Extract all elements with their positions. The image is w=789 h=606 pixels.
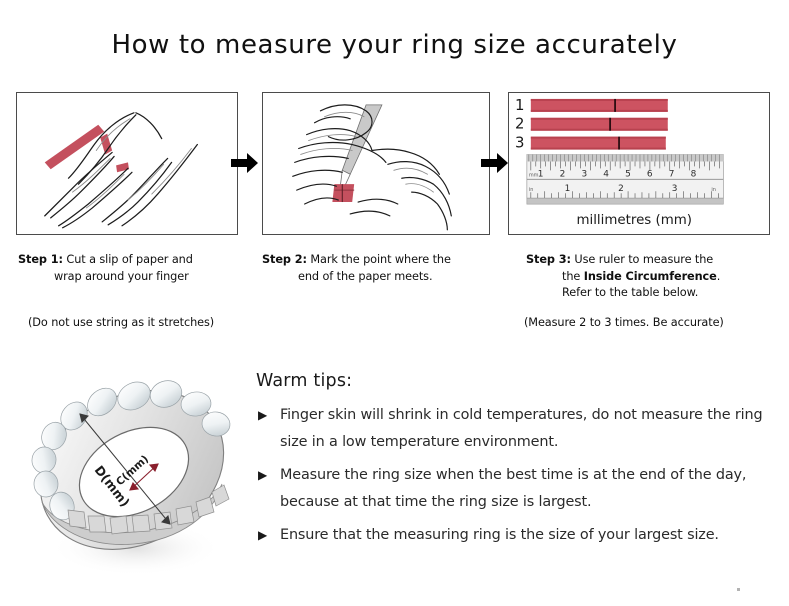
step-3-line-1: Use ruler to measure the <box>574 253 713 266</box>
svg-text:in: in <box>711 187 716 193</box>
triangle-bullet-icon: ▶ <box>258 402 267 429</box>
step-1-note: (Do not use string as it stretches) <box>28 316 214 329</box>
step-2-line-1: Mark the point where the <box>310 253 450 266</box>
svg-text:6: 6 <box>647 169 653 179</box>
step-1-illustration-panel <box>16 92 238 235</box>
step-2-line-2: end of the paper meets. <box>262 269 498 286</box>
svg-text:4: 4 <box>603 169 609 179</box>
list-item: ▶ Finger skin will shrink in cold temper… <box>258 402 774 456</box>
ring-measurement-figure: D(mm) C(mm) <box>18 352 250 590</box>
triangle-bullet-icon: ▶ <box>258 462 267 489</box>
step-3-line-3: Refer to the table below. <box>526 285 784 302</box>
list-item: ▶ Ensure that the measuring ring is the … <box>258 522 774 549</box>
inside-circumference-emphasis: Inside Circumference <box>584 270 717 283</box>
ruler-unit-caption: millimetres (mm) <box>576 213 692 228</box>
svg-text:8: 8 <box>691 169 697 179</box>
warm-tips-list: ▶ Finger skin will shrink in cold temper… <box>258 402 774 555</box>
paper-strip-1 <box>531 99 668 112</box>
svg-text:7: 7 <box>669 169 675 179</box>
right-arrow-icon <box>231 152 259 174</box>
eternity-ring-photo: D(mm) C(mm) <box>18 352 250 590</box>
svg-text:3: 3 <box>581 169 587 179</box>
tip-text: Measure the ring size when the best time… <box>280 467 746 510</box>
step-3-line-2-suffix: . <box>717 270 721 283</box>
step-2-number: Step 2: <box>262 253 307 266</box>
step-2-caption: Step 2: Mark the point where the end of … <box>262 252 498 285</box>
list-item: ▶ Measure the ring size when the best ti… <box>258 462 774 516</box>
paper-strip-3 <box>531 137 666 150</box>
svg-text:3: 3 <box>672 184 678 194</box>
arrow-step-2-to-3 <box>481 152 509 174</box>
right-arrow-icon <box>481 152 509 174</box>
corner-speck <box>737 588 740 591</box>
hand-marking-paper-illustration <box>263 93 489 235</box>
step-3-caption: Step 3: Use ruler to measure the the Ins… <box>526 252 784 302</box>
arrow-step-1-to-2 <box>231 152 259 174</box>
ring-size-guide-page: How to measure your ring size accurately <box>0 0 789 606</box>
paper-strip-2 <box>531 118 668 131</box>
paper-strips-over-ruler-illustration: 1 2 3 <box>509 93 769 235</box>
step-1-number: Step 1: <box>18 253 63 266</box>
page-title: How to measure your ring size accurately <box>0 30 789 60</box>
tip-text: Finger skin will shrink in cold temperat… <box>280 407 762 450</box>
step-1-line-2: wrap around your finger <box>18 269 250 286</box>
ruler-graphic: mm 1 2 3 4 5 6 7 8 in 1 2 3 in <box>527 155 723 205</box>
step-1-caption: Step 1: Cut a slip of paper and wrap aro… <box>18 252 250 285</box>
strip-label-3: 3 <box>515 134 524 152</box>
warm-tips-heading: Warm tips: <box>256 371 352 391</box>
hand-with-paper-strip-illustration <box>17 93 237 235</box>
step-3-number: Step 3: <box>526 253 571 266</box>
step-1-line-1: Cut a slip of paper and <box>66 253 192 266</box>
svg-text:1: 1 <box>565 184 571 194</box>
tip-text: Ensure that the measuring ring is the si… <box>280 527 719 543</box>
triangle-bullet-icon: ▶ <box>258 522 267 549</box>
strip-label-2: 2 <box>515 115 524 133</box>
svg-text:2: 2 <box>618 184 624 194</box>
svg-text:5: 5 <box>625 169 631 179</box>
step-2-illustration-panel <box>262 92 490 235</box>
step-3-line-2-prefix: the <box>562 270 584 283</box>
step-3-illustration-panel: 1 2 3 <box>508 92 770 235</box>
strip-label-1: 1 <box>515 96 524 114</box>
svg-text:1: 1 <box>538 169 544 179</box>
svg-text:2: 2 <box>560 169 566 179</box>
step-3-note: (Measure 2 to 3 times. Be accurate) <box>524 316 724 329</box>
step-3-line-2: the Inside Circumference. <box>526 269 784 286</box>
